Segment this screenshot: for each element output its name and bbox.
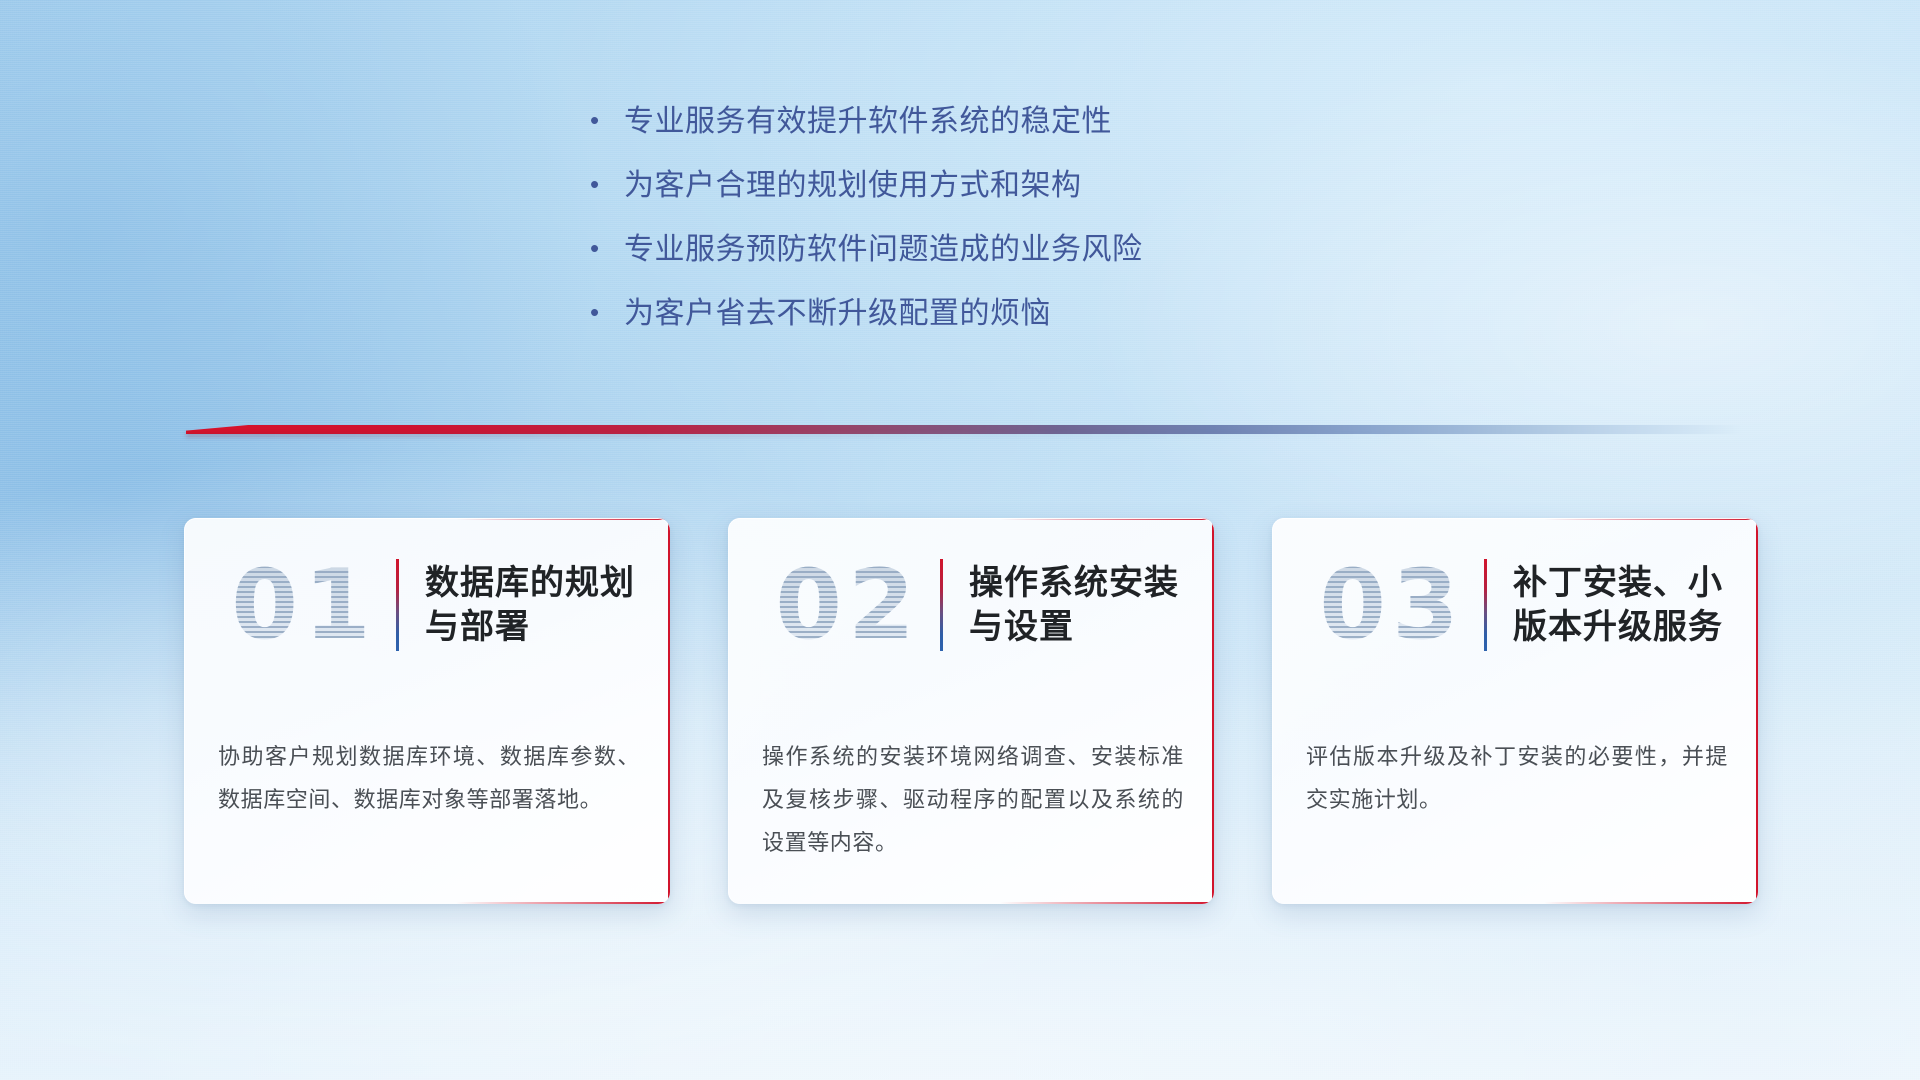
card-watermark-number: 02 [760, 557, 936, 653]
card-accent-border-bottom [1000, 902, 1214, 904]
service-card[interactable]: 02 操作系统安装与设置 操作系统的安装环境网络调查、安装标准及复核步骤、驱动程… [728, 518, 1214, 904]
card-accent-border-top [456, 518, 670, 520]
card-header: 02 操作系统安装与设置 [728, 536, 1214, 674]
card-accent-border-top [1000, 518, 1214, 520]
bullet-list: • 专业服务有效提升软件系统的稳定性 • 为客户合理的规划使用方式和架构 • 专… [0, 96, 1920, 352]
bullet-text: 为客户省去不断升级配置的烦恼 [624, 288, 1330, 332]
card-body-text: 评估版本升级及补丁安装的必要性，并提交实施计划。 [1306, 736, 1728, 822]
card-title-accent-bar [1484, 559, 1487, 651]
card-watermark-number: 03 [1304, 557, 1480, 653]
card-header: 01 数据库的规划与部署 [184, 536, 670, 674]
service-card[interactable]: 03 补丁安装、小版本升级服务 评估版本升级及补丁安装的必要性，并提交实施计划。 [1272, 518, 1758, 904]
bullet-item: • 为客户省去不断升级配置的烦恼 [590, 288, 1330, 352]
bullet-text: 专业服务有效提升软件系统的稳定性 [624, 96, 1330, 140]
bullet-dot-icon: • [590, 107, 624, 133]
card-title: 操作系统安装与设置 [969, 561, 1214, 649]
service-card-list: 01 数据库的规划与部署 协助客户规划数据库环境、数据库参数、数据库空间、数据库… [184, 518, 1758, 904]
card-title: 数据库的规划与部署 [425, 561, 670, 649]
card-title-accent-bar [396, 559, 399, 651]
bullet-text: 专业服务预防软件问题造成的业务风险 [624, 224, 1330, 268]
divider-shadow [186, 433, 1400, 437]
card-accent-border-bottom [456, 902, 670, 904]
card-header: 03 补丁安装、小版本升级服务 [1272, 536, 1758, 674]
card-title-accent-bar [940, 559, 943, 651]
card-accent-border-top [1544, 518, 1758, 520]
bullet-dot-icon: • [590, 299, 624, 325]
card-body-text: 操作系统的安装环境网络调查、安装标准及复核步骤、驱动程序的配置以及系统的设置等内… [762, 736, 1184, 865]
service-card[interactable]: 01 数据库的规划与部署 协助客户规划数据库环境、数据库参数、数据库空间、数据库… [184, 518, 670, 904]
card-title: 补丁安装、小版本升级服务 [1513, 561, 1758, 649]
bullet-dot-icon: • [590, 171, 624, 197]
card-body-text: 协助客户规划数据库环境、数据库参数、数据库空间、数据库对象等部署落地。 [218, 736, 640, 822]
bullet-item: • 为客户合理的规划使用方式和架构 [590, 160, 1330, 224]
bullet-text: 为客户合理的规划使用方式和架构 [624, 160, 1330, 204]
bullet-item: • 专业服务预防软件问题造成的业务风险 [590, 224, 1330, 288]
card-accent-border-bottom [1544, 902, 1758, 904]
bullet-item: • 专业服务有效提升软件系统的稳定性 [590, 96, 1330, 160]
section-divider [186, 421, 1742, 439]
card-watermark-number: 01 [216, 557, 392, 653]
bullet-dot-icon: • [590, 235, 624, 261]
